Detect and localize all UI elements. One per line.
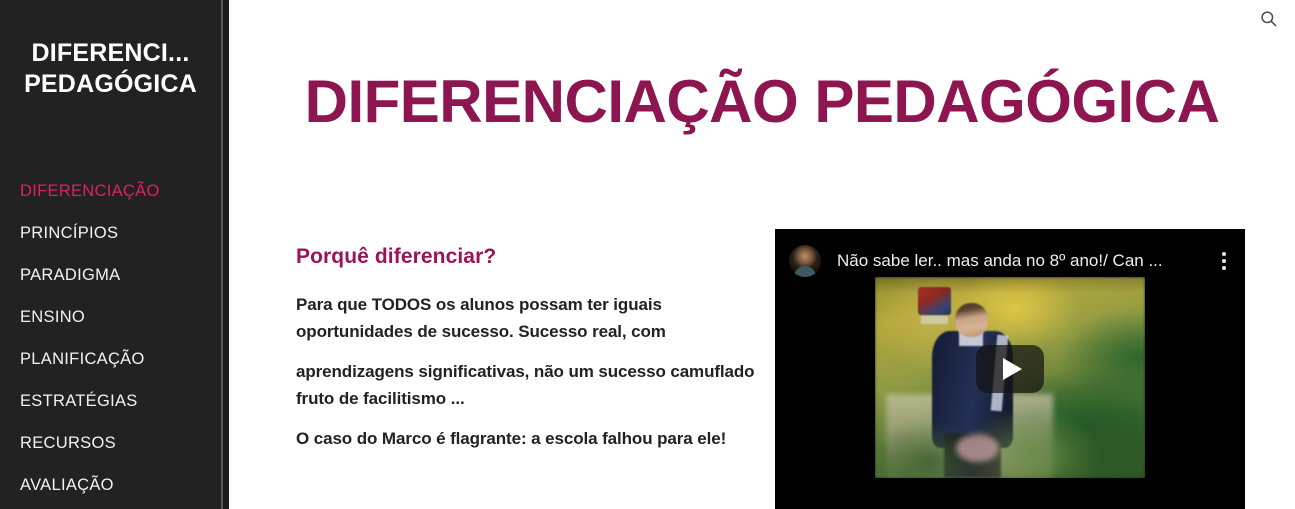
text-column: Porquê diferenciar? Para que TODOS os al… [296, 243, 758, 465]
section-heading: Porquê diferenciar? [296, 243, 758, 271]
sidebar-nav: DIFERENCIAÇÃO PRINCÍPIOS PARADIGMA ENSIN… [0, 178, 221, 509]
main-content: DIFERENCIAÇÃO PEDAGÓGICA Porquê diferenc… [229, 0, 1295, 509]
thumbnail-subject-head [955, 303, 989, 337]
sidebar: DIFERENCI... PEDAGÓGICA DIFERENCIAÇÃO PR… [0, 0, 221, 509]
youtube-video-embed[interactable]: Não sabe ler.. mas anda no 8º ano!/ Can … [775, 229, 1245, 509]
site-title-line-2: PEDAGÓGICA [18, 69, 203, 100]
sidebar-item-estrategias[interactable]: ESTRATÉGIAS [0, 388, 221, 430]
video-title[interactable]: Não sabe ler.. mas anda no 8º ano!/ Can … [837, 250, 1211, 272]
sidebar-item-ensino[interactable]: ENSINO [0, 304, 221, 346]
site-title: DIFERENCI... PEDAGÓGICA [0, 38, 221, 100]
sidebar-item-diferenciacao[interactable]: DIFERENCIAÇÃO [0, 178, 221, 220]
sidebar-item-avaliacao[interactable]: AVALIAÇÃO [0, 472, 221, 509]
kebab-menu-icon[interactable] [1211, 246, 1237, 276]
thumbnail-foreground-blur [956, 434, 999, 462]
video-top-bar: Não sabe ler.. mas anda no 8º ano!/ Can … [775, 229, 1245, 293]
search-icon[interactable] [1253, 3, 1283, 33]
paragraph-1: Para que TODOS os alunos possam ter igua… [296, 291, 758, 345]
play-icon[interactable] [976, 345, 1044, 393]
page-root: DIFERENCI... PEDAGÓGICA DIFERENCIAÇÃO PR… [0, 0, 1295, 509]
sidebar-item-recursos[interactable]: RECURSOS [0, 430, 221, 472]
sidebar-item-paradigma[interactable]: PARADIGMA [0, 262, 221, 304]
thumbnail-foreground-branch [875, 406, 1145, 478]
page-title: DIFERENCIAÇÃO PEDAGÓGICA [229, 66, 1295, 138]
paragraph-2: aprendizagens significativas, não um suc… [296, 358, 758, 412]
play-triangle [1003, 358, 1022, 380]
sidebar-item-planificacao[interactable]: PLANIFICAÇÃO [0, 346, 221, 388]
site-title-line-1: DIFERENCI... [18, 38, 203, 69]
sidebar-item-principios[interactable]: PRINCÍPIOS [0, 220, 221, 262]
channel-avatar-icon[interactable] [789, 245, 821, 277]
paragraph-3: O caso do Marco é flagrante: a escola fa… [296, 425, 758, 452]
